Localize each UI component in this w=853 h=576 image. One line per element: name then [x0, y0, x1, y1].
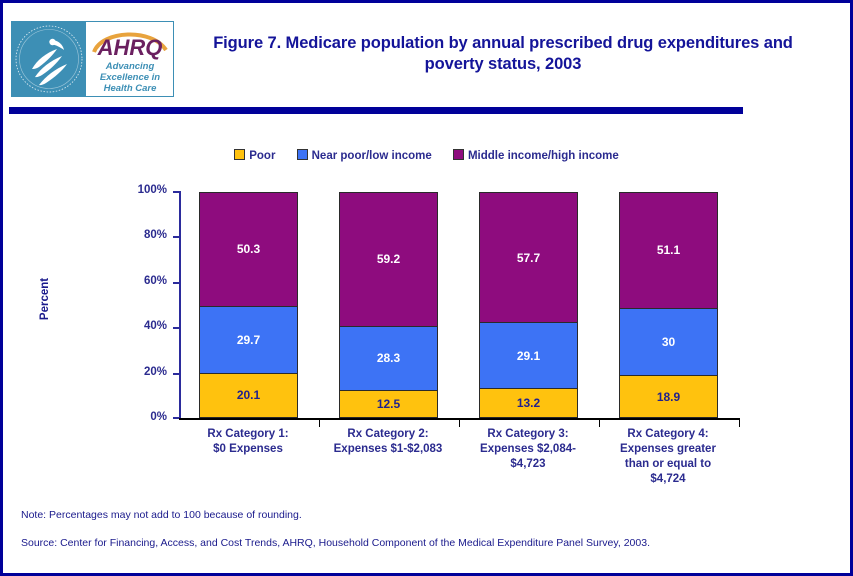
svg-text:AHRQ: AHRQ [97, 35, 163, 60]
y-tick-label-0: 0% [109, 412, 167, 424]
y-tick-mark-60 [173, 282, 180, 284]
legend-swatch-poor [234, 149, 245, 160]
x-category-label-4-line-4: $4,724 [593, 472, 743, 487]
figure-title: Figure 7. Medicare population by annual … [183, 33, 823, 75]
x-category-label-2-line-2: Expenses $1-$2,083 [313, 442, 463, 457]
bar-segment-near-poor-2[interactable]: 28.3 [339, 326, 438, 390]
y-tick-mark-20 [173, 373, 180, 375]
bar-segment-near-poor-3[interactable]: 29.1 [479, 322, 578, 388]
y-tick-label-80: 80% [109, 230, 167, 242]
x-category-label-3-line-3: $4,723 [453, 457, 603, 472]
bar-rx-category-4[interactable]: 51.1 30 18.9 [619, 192, 718, 418]
legend-label-near-poor: Near poor/low income [312, 150, 432, 162]
svg-text:Advancing: Advancing [105, 61, 155, 72]
x-tick-mark-2 [459, 420, 460, 427]
x-category-label-4-line-2: Expenses greater [593, 442, 743, 457]
x-category-label-3-line-1: Rx Category 3: [453, 427, 603, 442]
bar-segment-poor-4[interactable]: 18.9 [619, 375, 718, 418]
bar-segment-middle-high-3[interactable]: 57.7 [479, 192, 578, 322]
x-tick-mark-4 [739, 420, 740, 427]
x-category-label-3: Rx Category 3: Expenses $2,084- $4,723 [453, 427, 603, 472]
y-tick-mark-40 [173, 327, 180, 329]
bar-value-middle-high-4: 51.1 [657, 243, 680, 257]
bar-value-middle-high-2: 59.2 [377, 252, 400, 266]
figure-header: AHRQ Advancing Excellence in Health Care… [3, 3, 850, 101]
hhs-seal-icon [12, 22, 86, 96]
bar-rx-category-2[interactable]: 59.2 28.3 12.5 [339, 192, 438, 418]
bar-segment-near-poor-1[interactable]: 29.7 [199, 306, 298, 373]
x-category-label-4: Rx Category 4: Expenses greater than or … [593, 427, 743, 487]
bar-segment-near-poor-4[interactable]: 30 [619, 308, 718, 376]
bar-value-poor-3: 13.2 [517, 396, 540, 410]
bar-value-middle-high-3: 57.7 [517, 251, 540, 265]
bar-segment-middle-high-1[interactable]: 50.3 [199, 192, 298, 306]
x-category-label-1-line-1: Rx Category 1: [173, 427, 323, 442]
figure-notes: Note: Percentages may not add to 100 bec… [21, 508, 831, 550]
legend-item-middle-high: Middle income/high income [453, 149, 619, 162]
x-category-label-3-line-2: Expenses $2,084- [453, 442, 603, 457]
y-tick-mark-100 [173, 191, 180, 193]
y-tick-label-60: 60% [109, 276, 167, 288]
bar-rx-category-3[interactable]: 57.7 29.1 13.2 [479, 192, 578, 418]
x-category-label-4-line-1: Rx Category 4: [593, 427, 743, 442]
y-tick-mark-80 [173, 236, 180, 238]
bar-value-poor-1: 20.1 [237, 388, 260, 402]
y-tick-label-40: 40% [109, 321, 167, 333]
bar-segment-middle-high-2[interactable]: 59.2 [339, 192, 438, 326]
x-category-label-2: Rx Category 2: Expenses $1-$2,083 [313, 427, 463, 457]
bar-value-poor-2: 12.5 [377, 397, 400, 411]
y-tick-label-100: 100% [109, 185, 167, 197]
x-tick-mark-1 [319, 420, 320, 427]
bar-rx-category-1[interactable]: 50.3 29.7 20.1 [199, 192, 298, 418]
x-category-label-1-line-2: $0 Expenses [173, 442, 323, 457]
bar-value-middle-high-1: 50.3 [237, 242, 260, 256]
header-divider-rule [9, 107, 743, 114]
chart-legend: Poor Near poor/low income Middle income/… [3, 149, 850, 162]
bar-segment-poor-3[interactable]: 13.2 [479, 388, 578, 418]
svg-text:Health Care: Health Care [104, 83, 158, 94]
bar-segment-middle-high-4[interactable]: 51.1 [619, 192, 718, 308]
note-source: Source: Center for Financing, Access, an… [21, 536, 831, 550]
legend-swatch-middle-high [453, 149, 464, 160]
figure-container: AHRQ Advancing Excellence in Health Care… [0, 0, 853, 576]
y-tick-label-20: 20% [109, 367, 167, 379]
ahrq-wordmark: AHRQ Advancing Excellence in Health Care [86, 22, 173, 96]
bar-value-near-poor-2: 28.3 [377, 351, 400, 365]
note-rounding: Note: Percentages may not add to 100 bec… [21, 508, 831, 522]
ahrq-hhs-logo: AHRQ Advancing Excellence in Health Care [11, 21, 174, 97]
x-category-label-2-line-1: Rx Category 2: [313, 427, 463, 442]
svg-text:Excellence in: Excellence in [100, 72, 160, 83]
bar-value-near-poor-1: 29.7 [237, 333, 260, 347]
y-axis-line [179, 191, 181, 419]
legend-item-near-poor: Near poor/low income [297, 149, 432, 162]
legend-label-middle-high: Middle income/high income [468, 150, 619, 162]
x-category-label-1: Rx Category 1: $0 Expenses [173, 427, 323, 457]
y-axis-title: Percent [39, 249, 51, 349]
bar-value-near-poor-4: 30 [662, 335, 675, 349]
legend-item-poor: Poor [234, 149, 275, 162]
x-category-label-4-line-3: than or equal to [593, 457, 743, 472]
bar-segment-poor-1[interactable]: 20.1 [199, 373, 298, 418]
x-tick-mark-3 [599, 420, 600, 427]
legend-label-poor: Poor [249, 150, 275, 162]
legend-swatch-near-poor [297, 149, 308, 160]
bar-value-near-poor-3: 29.1 [517, 349, 540, 363]
bar-segment-poor-2[interactable]: 12.5 [339, 390, 438, 418]
bar-value-poor-4: 18.9 [657, 390, 680, 404]
